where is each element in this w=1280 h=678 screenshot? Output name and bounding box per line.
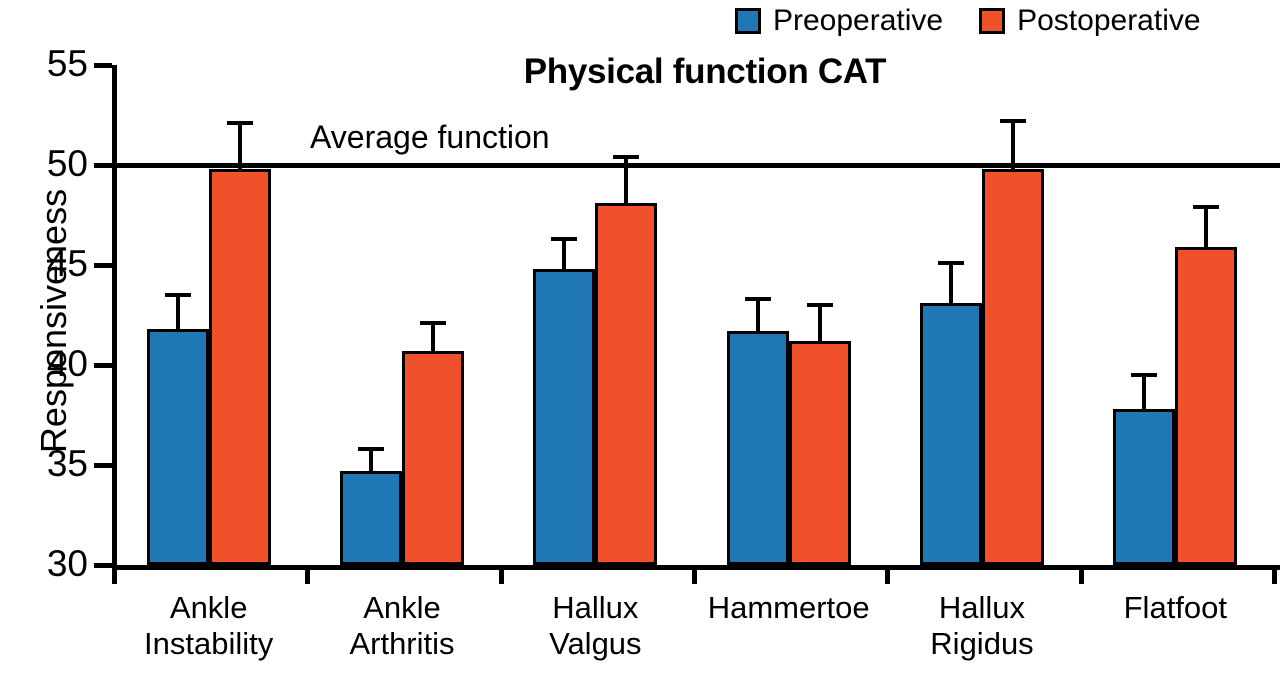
bar-postoperative-3[interactable] — [789, 341, 851, 565]
chart-figure: Preoperative Postoperative Physical func… — [0, 0, 1280, 678]
y-axis-tick — [94, 63, 112, 68]
error-bar-cap — [745, 297, 771, 301]
error-bar-stem — [624, 155, 628, 203]
x-axis-category-label: Hammertoe — [692, 590, 885, 626]
error-bar-stem — [562, 237, 566, 269]
y-axis-line — [112, 65, 117, 568]
error-bar-stem — [1204, 205, 1208, 247]
error-bar-cap — [1193, 205, 1219, 209]
bar-preoperative-2[interactable] — [533, 269, 595, 565]
x-axis-category-label: Hallux Rigidus — [885, 590, 1078, 662]
x-axis-category-label: Ankle Arthritis — [305, 590, 498, 662]
y-axis-tick — [94, 163, 112, 168]
error-bar-stem — [756, 297, 760, 331]
y-axis-tick — [94, 463, 112, 468]
y-axis-tick-label: 30 — [0, 545, 88, 582]
legend-label-postoperative: Postoperative — [1017, 6, 1200, 36]
chart-legend: Preoperative Postoperative — [735, 0, 1201, 42]
y-axis-tick — [94, 263, 112, 268]
error-bar-cap — [938, 261, 964, 265]
error-bar-cap — [165, 293, 191, 297]
legend-item-postoperative[interactable]: Postoperative — [979, 6, 1200, 36]
error-bar-cap — [1000, 119, 1026, 123]
error-bar-stem — [176, 293, 180, 329]
x-axis-category-label: Flatfoot — [1079, 590, 1272, 626]
bar-postoperative-2[interactable] — [595, 203, 657, 565]
error-bar-cap — [358, 447, 384, 451]
y-axis-tick — [94, 563, 112, 568]
bar-preoperative-4[interactable] — [920, 303, 982, 565]
bar-postoperative-1[interactable] — [402, 351, 464, 565]
x-axis-category-label: Ankle Instability — [112, 590, 305, 662]
average-function-line — [112, 163, 1280, 168]
error-bar-stem — [1142, 373, 1146, 409]
error-bar-stem — [431, 321, 435, 351]
error-bar-cap — [551, 237, 577, 241]
y-axis-tick-label: 50 — [0, 145, 88, 182]
legend-swatch-postoperative — [979, 8, 1005, 34]
bar-postoperative-4[interactable] — [982, 169, 1044, 565]
x-axis-tick — [112, 565, 117, 584]
legend-label-preoperative: Preoperative — [773, 6, 943, 36]
x-axis-category-label: Hallux Valgus — [499, 590, 692, 662]
x-axis-tick — [1079, 565, 1084, 584]
error-bar-cap — [1131, 373, 1157, 377]
bar-preoperative-5[interactable] — [1113, 409, 1175, 565]
bar-preoperative-1[interactable] — [340, 471, 402, 565]
x-axis-tick — [499, 565, 504, 584]
legend-item-preoperative[interactable]: Preoperative — [735, 6, 943, 36]
x-axis-tick — [885, 565, 890, 584]
error-bar-cap — [420, 321, 446, 325]
y-axis-tick-label: 45 — [0, 245, 88, 282]
error-bar-stem — [818, 303, 822, 341]
bar-postoperative-0[interactable] — [209, 169, 271, 565]
error-bar-cap — [227, 121, 253, 125]
error-bar-stem — [1011, 119, 1015, 169]
error-bar-stem — [238, 121, 242, 169]
y-axis-title: Responsiveness — [33, 61, 75, 581]
x-axis-tick — [692, 565, 697, 584]
average-function-label: Average function — [310, 121, 550, 153]
bar-preoperative-0[interactable] — [147, 329, 209, 565]
error-bar-cap — [807, 303, 833, 307]
y-axis-tick-label: 40 — [0, 345, 88, 382]
y-axis-tick — [94, 363, 112, 368]
bar-postoperative-5[interactable] — [1175, 247, 1237, 565]
x-axis-tick — [305, 565, 310, 584]
y-axis-tick-label: 55 — [0, 45, 88, 82]
error-bar-stem — [949, 261, 953, 303]
legend-swatch-preoperative — [735, 8, 761, 34]
x-axis-tick — [1272, 565, 1277, 584]
bar-preoperative-3[interactable] — [727, 331, 789, 565]
error-bar-cap — [613, 155, 639, 159]
plot-area: 303540455055 Average function Ankle Inst… — [112, 65, 1272, 565]
y-axis-tick-label: 35 — [0, 445, 88, 482]
